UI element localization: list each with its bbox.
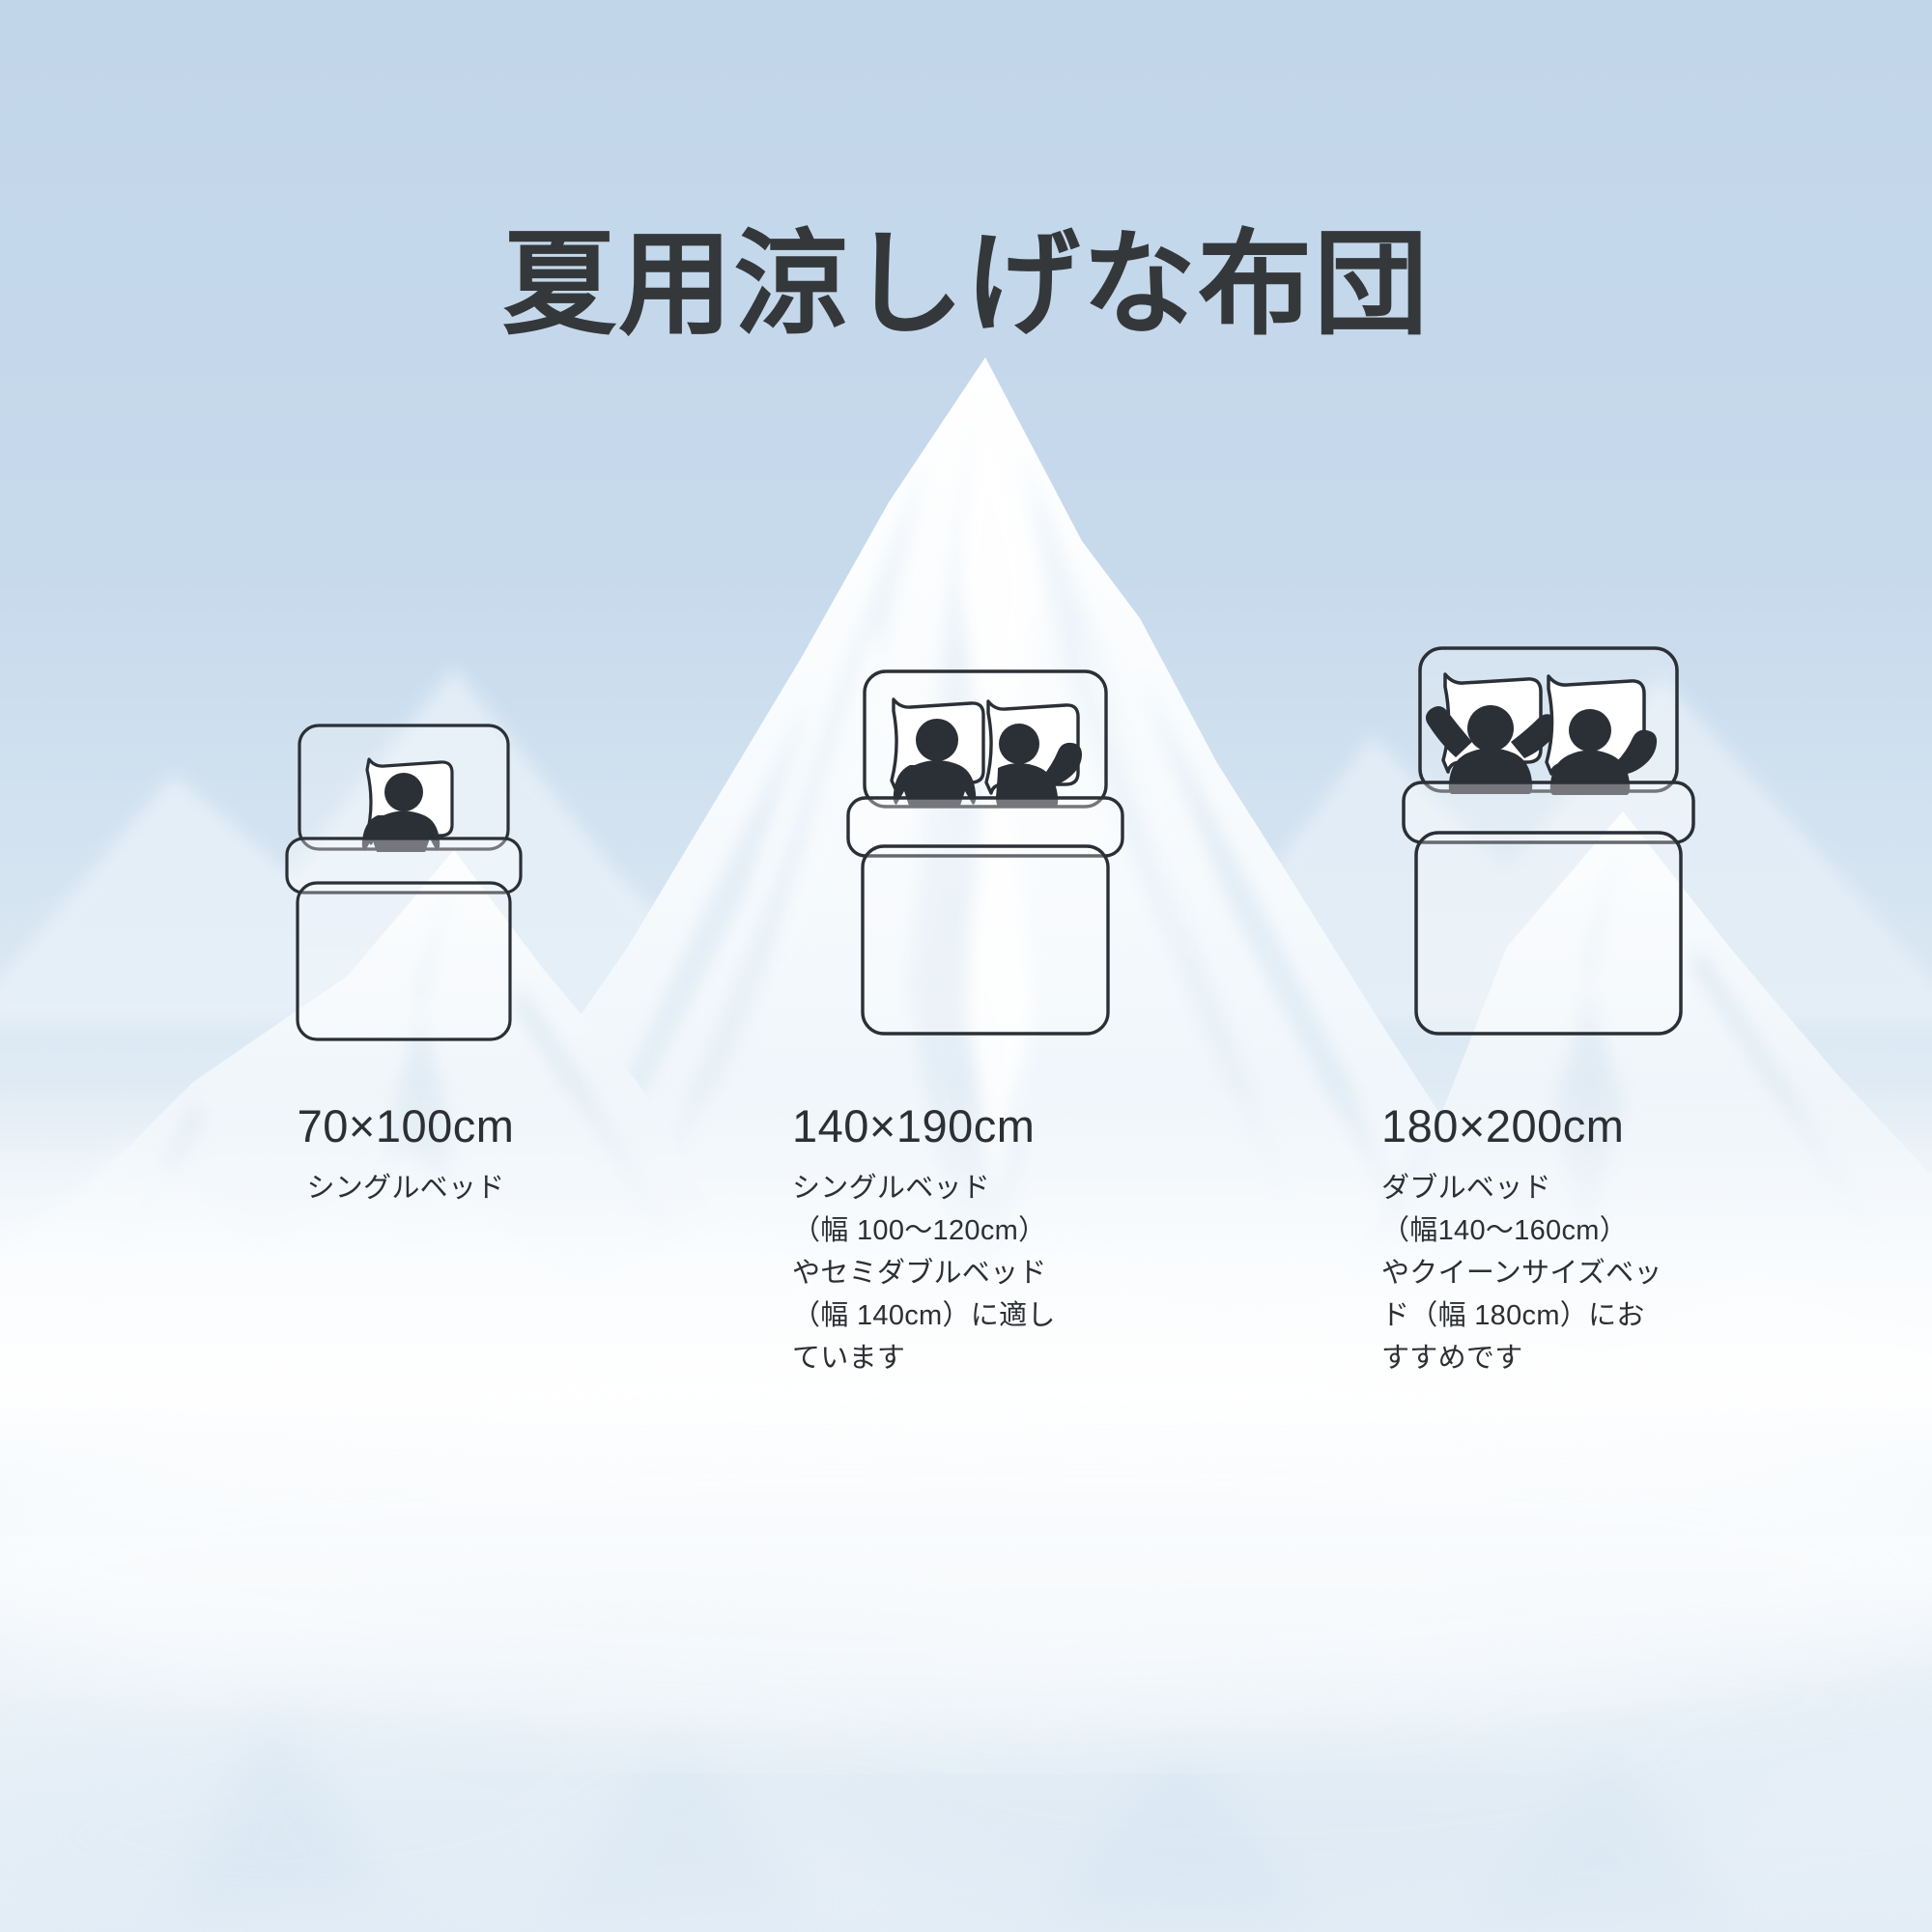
size-card-semi-double[interactable] — [845, 668, 1125, 1037]
size-label-semi-double: 140×190cm — [792, 1101, 1198, 1151]
size-card-list: 70×100cm シングルベッド 140×190cm シングルベッド （幅 10… — [0, 676, 1932, 1449]
size-desc-double: ダブルベッド （幅140～160cm） やクイーンサイズベッ ド（幅 180cm… — [1381, 1167, 1806, 1379]
caption-semi-double: 140×190cm シングルベッド （幅 100～120cm） やセミダブルベッ… — [792, 1101, 1198, 1379]
caption-single: 70×100cm シングルベッド — [174, 1101, 638, 1209]
size-desc-semi-double: シングルベッド （幅 100～120cm） やセミダブルベッド （幅 140cm… — [792, 1167, 1198, 1379]
single-bed-one-person-icon — [284, 723, 524, 1041]
size-label-single: 70×100cm — [174, 1101, 638, 1151]
double-bed-two-person-icon — [1401, 645, 1696, 1037]
size-desc-single: シングルベッド — [174, 1167, 638, 1209]
semi-double-bed-two-person-icon — [845, 668, 1125, 1037]
size-label-double: 180×200cm — [1381, 1101, 1806, 1151]
caption-double: 180×200cm ダブルベッド （幅140～160cm） やクイーンサイズベッ… — [1381, 1101, 1806, 1379]
page-title: 夏用涼しげな布団 — [0, 220, 1932, 352]
size-card-double[interactable] — [1401, 645, 1696, 1037]
size-card-single[interactable] — [284, 723, 524, 1041]
